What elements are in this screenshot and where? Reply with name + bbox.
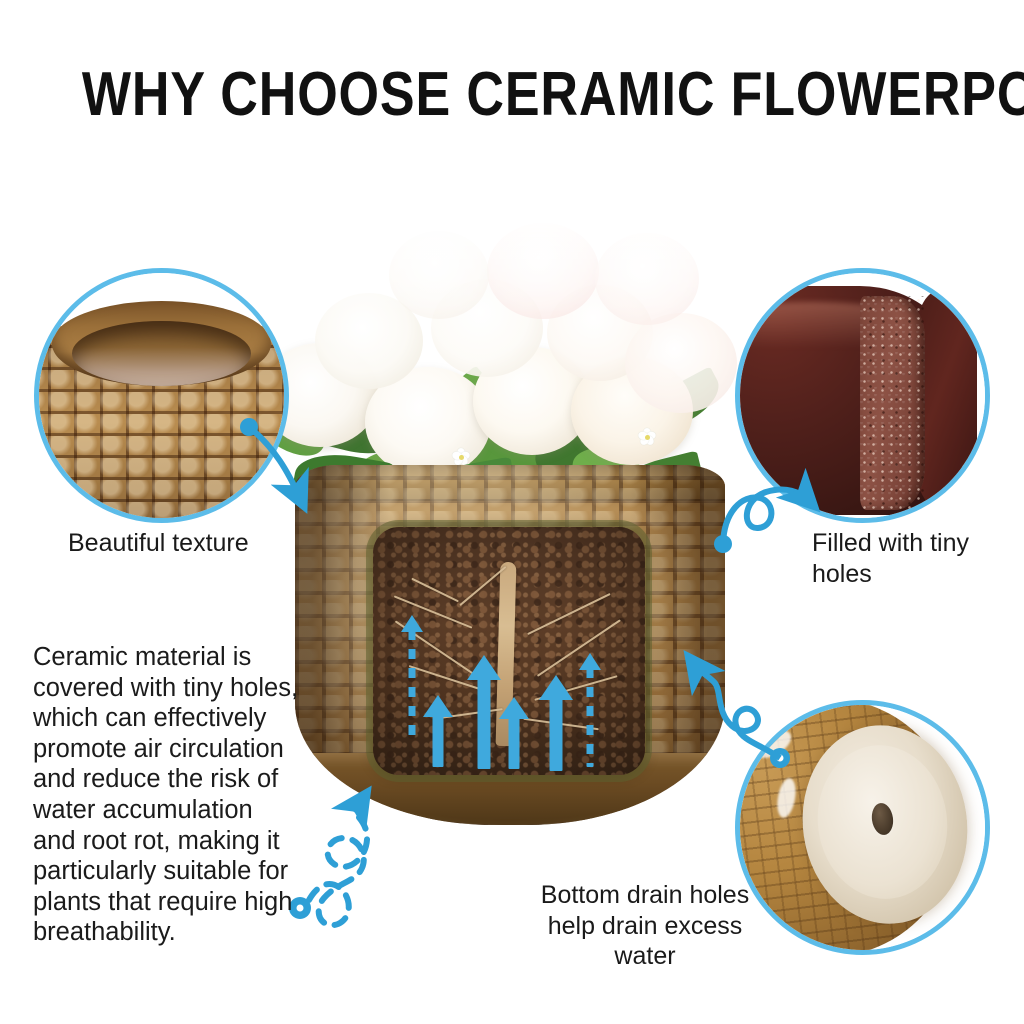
airflow-arrow bbox=[499, 697, 529, 769]
small-white-flower bbox=[637, 427, 657, 447]
airflow-arrow-dashed bbox=[579, 653, 601, 767]
rose-flower bbox=[389, 231, 489, 319]
callout-circle-texture[interactable] bbox=[34, 268, 289, 523]
rim-opening bbox=[72, 321, 251, 386]
ceramic-cross-section-photo bbox=[738, 271, 987, 520]
rose-flower bbox=[595, 233, 699, 325]
porous-ceramic-edge bbox=[860, 296, 925, 510]
caption-line: holes bbox=[812, 560, 872, 588]
body-paragraph: Ceramic material is covered with tiny ho… bbox=[33, 642, 301, 948]
rose-flower bbox=[625, 313, 737, 413]
caption-filled-with-tiny-holes: Filled with tiny holes bbox=[812, 528, 1012, 589]
callout-circle-pores[interactable] bbox=[735, 268, 990, 523]
flower-bouquet bbox=[255, 175, 765, 505]
callout-circle-drain[interactable] bbox=[735, 700, 990, 955]
infographic-canvas: WHY CHOOSE CERAMIC FLOWERPOTS bbox=[0, 0, 1024, 1024]
caption-line: help drain excess bbox=[548, 912, 743, 940]
airflow-arrow bbox=[467, 655, 501, 769]
airflow-arrow-dashed bbox=[401, 615, 423, 737]
caption-beautiful-texture: Beautiful texture bbox=[68, 528, 328, 559]
pot-rim-closeup-photo bbox=[37, 271, 286, 520]
tiny-holes-texture bbox=[860, 296, 925, 510]
soil-cutaway-window bbox=[373, 527, 645, 775]
page-title: WHY CHOOSE CERAMIC FLOWERPOTS bbox=[82, 62, 942, 127]
caption-bottom-drain-holes: Bottom drain holes help drain excess wat… bbox=[520, 880, 770, 972]
pot-base-closeup-photo bbox=[738, 703, 987, 952]
airflow-arrow bbox=[423, 695, 453, 767]
caption-line: Bottom drain holes bbox=[541, 881, 749, 909]
caption-line: Filled with tiny bbox=[812, 529, 969, 557]
rose-flower bbox=[487, 223, 599, 319]
airflow-arrow bbox=[539, 675, 573, 771]
caption-line: water bbox=[614, 942, 675, 970]
product-photo bbox=[255, 175, 765, 855]
